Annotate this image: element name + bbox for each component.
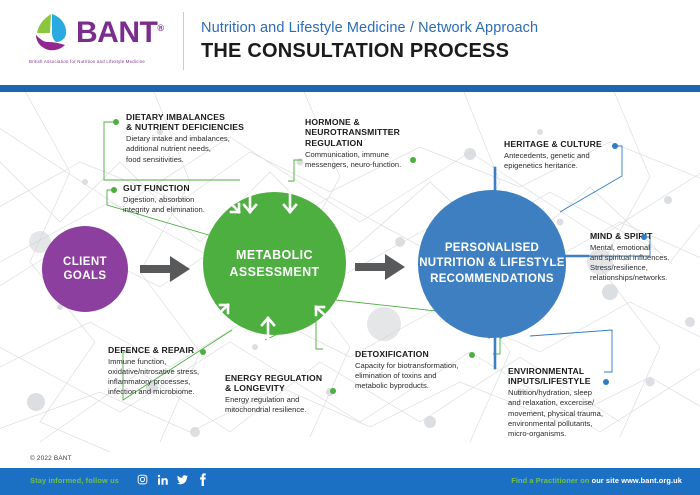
callout-heritage-culture-body: Antecedents, genetic andepigenetics heri… bbox=[504, 151, 624, 171]
page-header: BANT® British Association for Nutrition … bbox=[0, 0, 700, 85]
find-practitioner-cta[interactable]: Find a Practitioner on our site www.bant… bbox=[511, 476, 682, 485]
callout-hormone-neurotransmitter[interactable]: HORMONE &NEUROTRANSMITTERREGULATION Comm… bbox=[305, 117, 425, 170]
follow-us-label: Stay informed, follow us bbox=[30, 476, 119, 485]
bant-logo-tagline: British Association for Nutrition and Li… bbox=[29, 59, 145, 64]
header-subtitle: Nutrition and Lifestyle Medicine / Netwo… bbox=[201, 20, 538, 36]
callout-energy-regulation[interactable]: ENERGY REGULATION& LONGEVITY Energy regu… bbox=[225, 373, 347, 416]
callout-environmental-inputs-body: Nutrition/hydration, sleepand relaxation… bbox=[508, 388, 620, 438]
page-footer: Stay informed, follow us bbox=[0, 468, 700, 495]
callout-dot-gut-function bbox=[111, 187, 117, 193]
callout-dot-dietary-imbalances bbox=[113, 119, 119, 125]
callout-dot-detoxification bbox=[469, 352, 475, 358]
callout-dot-defence-repair bbox=[200, 349, 206, 355]
header-blue-rule bbox=[0, 85, 700, 92]
callout-defence-repair[interactable]: DEFENCE & REPAIR Immune function,oxidati… bbox=[108, 345, 236, 397]
callout-dot-mind-spirit bbox=[641, 234, 647, 240]
callout-hormone-neurotransmitter-body: Communication, immunemessengers, neuro-f… bbox=[305, 150, 425, 170]
callout-defence-repair-body: Immune function,oxidative/nitrosative st… bbox=[108, 357, 236, 397]
bant-logo-wordmark: BANT® bbox=[76, 18, 163, 48]
page-title: THE CONSULTATION PROCESS bbox=[201, 40, 509, 63]
callout-dot-environmental-inputs bbox=[603, 379, 609, 385]
callout-environmental-inputs[interactable]: ENVIRONMENTALINPUTS/LIFESTYLE Nutrition/… bbox=[508, 366, 620, 439]
bant-logo[interactable]: BANT® British Association for Nutrition … bbox=[28, 12, 178, 70]
instagram-icon[interactable] bbox=[136, 472, 149, 487]
twitter-icon[interactable] bbox=[176, 472, 189, 487]
callout-dot-energy-regulation bbox=[330, 388, 336, 394]
callout-heritage-culture-title: HERITAGE & CULTURE bbox=[504, 139, 624, 149]
facebook-icon[interactable] bbox=[196, 472, 209, 487]
callout-dietary-imbalances-body: Dietary intake and imbalances,additional… bbox=[126, 134, 264, 164]
linkedin-icon[interactable] bbox=[156, 472, 169, 487]
callout-dot-heritage-culture bbox=[612, 143, 618, 149]
callout-detoxification-body: Capacity for biotransformation,eliminati… bbox=[355, 361, 481, 391]
callout-dietary-imbalances[interactable]: DIETARY IMBALANCES& NUTRIENT DEFICIENCIE… bbox=[126, 112, 264, 165]
callout-heritage-culture[interactable]: HERITAGE & CULTURE Antecedents, genetic … bbox=[504, 139, 624, 171]
bant-logo-mark-icon bbox=[28, 12, 74, 54]
callout-hormone-neurotransmitter-title: HORMONE &NEUROTRANSMITTERREGULATION bbox=[305, 117, 425, 148]
website-url: our site www.bant.org.uk bbox=[592, 476, 682, 485]
callout-detoxification[interactable]: DETOXIFICATION Capacity for biotransform… bbox=[355, 349, 481, 391]
callout-defence-repair-title: DEFENCE & REPAIR bbox=[108, 345, 236, 355]
header-divider bbox=[183, 12, 184, 70]
social-links bbox=[136, 472, 209, 487]
callout-energy-regulation-title: ENERGY REGULATION& LONGEVITY bbox=[225, 373, 347, 394]
callout-detoxification-title: DETOXIFICATION bbox=[355, 349, 481, 359]
infographic-page: BANT® British Association for Nutrition … bbox=[0, 0, 700, 495]
callout-dot-hormone-neurotransmitter bbox=[410, 157, 416, 163]
copyright-text: © 2022 BANT bbox=[30, 455, 72, 462]
callout-dietary-imbalances-title: DIETARY IMBALANCES& NUTRIENT DEFICIENCIE… bbox=[126, 112, 264, 133]
callout-energy-regulation-body: Energy regulation andmitochondrial resil… bbox=[225, 395, 347, 415]
find-practitioner-label: Find a Practitioner on bbox=[511, 476, 589, 485]
callout-gut-function[interactable]: GUT FUNCTION Digestion, absorbtionintegr… bbox=[123, 183, 243, 215]
callout-mind-spirit-body: Mental, emotionaland spiritual influence… bbox=[590, 243, 698, 283]
callout-gut-function-title: GUT FUNCTION bbox=[123, 183, 243, 193]
callout-gut-function-body: Digestion, absorbtionintegrity and elimi… bbox=[123, 195, 243, 215]
